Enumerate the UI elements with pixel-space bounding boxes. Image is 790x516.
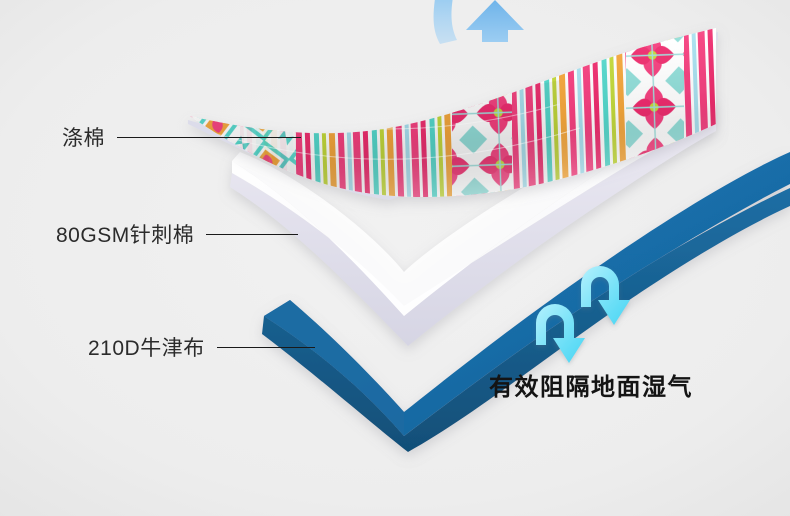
label-oxford-fabric: 210D牛津布 [88, 332, 315, 362]
label-needle-cotton-text: 80GSM针刺棉 [56, 219, 194, 249]
leader-line-oxford-fabric [217, 347, 315, 348]
label-poly-cotton-text: 涤棉 [62, 122, 105, 152]
label-oxford-fabric-text: 210D牛津布 [88, 332, 205, 362]
label-needle-cotton: 80GSM针刺棉 [56, 219, 298, 249]
layers-illustration [0, 0, 790, 516]
leader-line-poly-cotton [117, 137, 301, 138]
label-poly-cotton: 涤棉 [62, 122, 301, 152]
product-layer-diagram: 涤棉 80GSM针刺棉 210D牛津布 有效阻隔地面湿气 [0, 0, 790, 516]
leader-line-needle-cotton [206, 234, 298, 235]
tagline-text: 有效阻隔地面湿气 [489, 367, 693, 402]
